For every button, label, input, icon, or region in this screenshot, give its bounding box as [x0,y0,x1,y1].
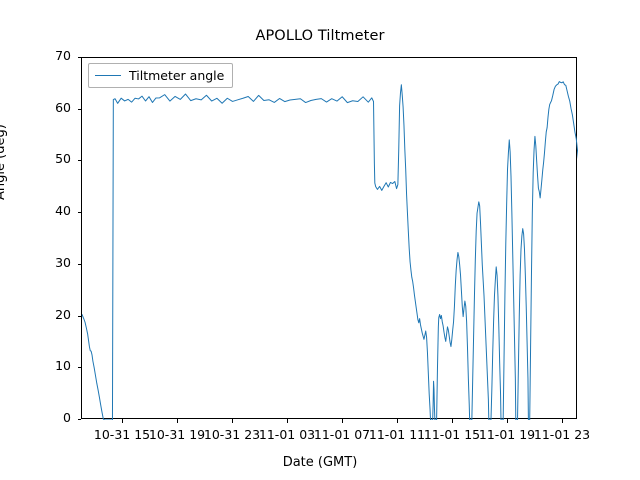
x-axis-tick-label: 10-31 19 [149,427,205,442]
y-axis-tick-label: 50 [27,153,71,165]
y-axis-tick-mark [78,212,82,213]
x-axis-tick-mark [452,419,453,423]
x-axis-tick-label: 10-31 15 [94,427,150,442]
x-axis-tick-mark [177,419,178,423]
y-axis-tick-label: 10 [27,360,71,372]
y-axis-tick-label: 30 [27,257,71,269]
y-axis-label: Angle (deg) [0,124,8,200]
y-axis-tick-mark [78,109,82,110]
x-axis-tick-mark [507,419,508,423]
y-axis-tick-mark [78,57,82,58]
y-axis-tick-label: 0 [27,412,71,424]
y-axis-tick-mark [78,419,82,420]
y-axis-tick-mark [78,316,82,317]
chart-figure: APOLLO Tiltmeter Angle (deg) Date (GMT) … [0,0,640,480]
x-axis-tick-label: 10-31 23 [204,427,260,442]
x-axis-tick-label: 11-01 23 [534,427,590,442]
x-axis-label: Date (GMT) [0,455,640,470]
plot-area [81,57,577,419]
y-axis-tick-label: 60 [27,102,71,114]
data-line-series [82,58,578,420]
y-axis-tick-label: 70 [27,50,71,62]
x-axis-tick-mark [397,419,398,423]
chart-title: APOLLO Tiltmeter [0,28,640,44]
y-axis-tick-mark [78,264,82,265]
chart-legend: Tiltmeter angle [88,63,233,88]
x-axis-tick-label: 11-01 11 [369,427,425,442]
x-axis-tick-mark [122,419,123,423]
legend-label-tiltmeter-angle: Tiltmeter angle [129,68,224,83]
y-axis-tick-mark [78,367,82,368]
x-axis-tick-mark [342,419,343,423]
x-axis-tick-label: 11-01 15 [424,427,480,442]
legend-line-swatch [95,75,121,76]
x-axis-tick-mark [287,419,288,423]
y-axis-tick-label: 40 [27,205,71,217]
y-axis-tick-mark [78,160,82,161]
y-axis-tick-label: 20 [27,309,71,321]
x-axis-tick-label: 11-01 07 [314,427,370,442]
x-axis-tick-mark [232,419,233,423]
x-axis-tick-label: 11-01 19 [479,427,535,442]
x-axis-tick-label: 11-01 03 [259,427,315,442]
x-axis-tick-mark [562,419,563,423]
